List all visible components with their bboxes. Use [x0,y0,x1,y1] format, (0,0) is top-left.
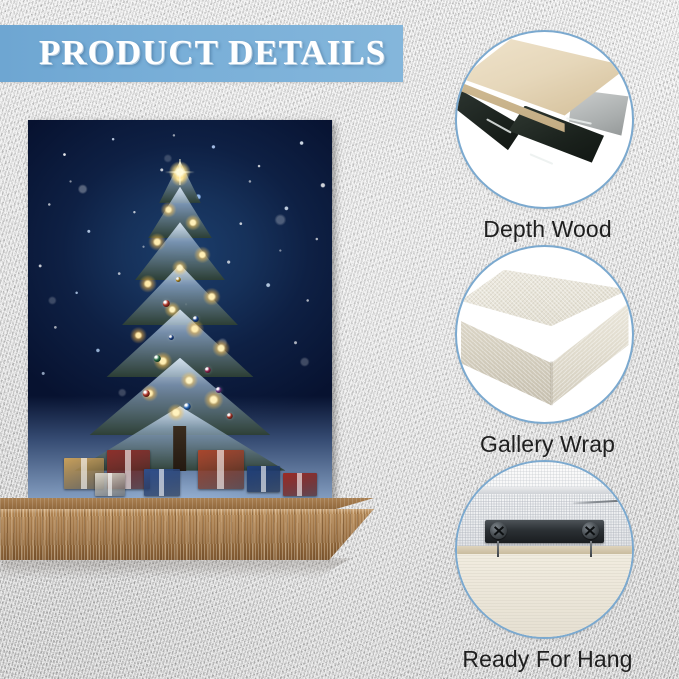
shelf-shadow [0,558,352,578]
product-details-banner: PRODUCT DETAILS [0,25,403,82]
scale-tick [529,153,552,164]
page-title: PRODUCT DETAILS [17,35,386,72]
depth-wood-image [455,30,634,209]
feature-label-ready-for-hang: Ready For Hang [455,646,640,673]
gift-box [144,469,180,496]
shelf-front-face [0,509,374,560]
ornament [169,335,174,340]
ornament [142,390,149,397]
hanger-nail [590,541,592,557]
feature-depth-wood: Depth Wood [455,30,640,243]
ornament [154,355,161,362]
gallery-wrap-image [455,245,634,424]
gift-box [95,473,125,496]
ornament [205,367,211,373]
feature-label-depth-wood: Depth Wood [455,216,640,243]
feature-ready-for-hang: Ready For Hang [455,460,640,673]
christmas-tree-canvas-artwork [28,120,332,504]
canvas-back-lower [457,554,632,637]
phillips-screw [582,522,599,539]
tree-trunk [173,426,186,471]
product-details-page: PRODUCT DETAILS [0,0,679,679]
floating-wood-shelf [0,498,374,560]
ready-for-hang-image [455,460,634,639]
ornament [216,387,222,393]
christmas-tree [86,155,274,478]
gift-box [283,473,316,496]
sawtooth-teeth [505,531,584,543]
gift-box [247,466,280,493]
canvas-back-top-strip [457,487,632,494]
star-topper [169,161,191,183]
stretcher-bar-edge [457,546,632,554]
feature-gallery-wrap: Gallery Wrap [455,245,640,458]
gift-box [198,450,244,488]
feature-label-gallery-wrap: Gallery Wrap [455,431,640,458]
hanger-nail [497,541,499,557]
